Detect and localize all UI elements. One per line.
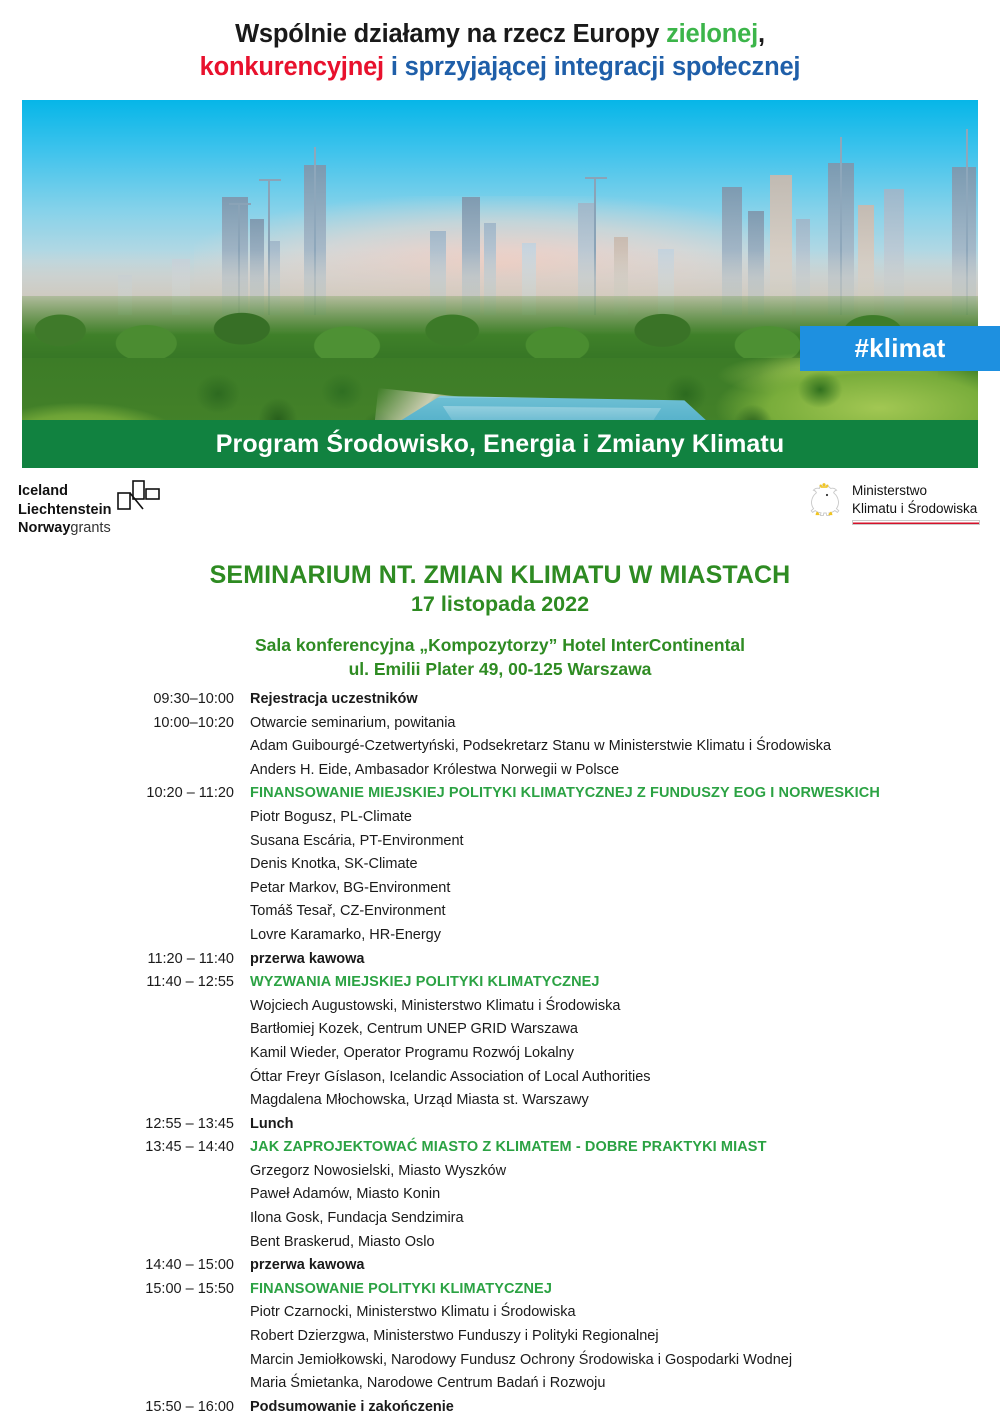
tagline-word-konkurencyjnej: konkurencyjnej bbox=[200, 53, 384, 81]
agenda-item-label: Rejestracja uczestników bbox=[250, 688, 418, 712]
agenda-time: 09:30–10:00 bbox=[0, 688, 250, 712]
program-name-bar: Program Środowisko, Energia i Zmiany Kli… bbox=[22, 420, 978, 468]
agenda-row: Ilona Gosk, Fundacja Sendzimira bbox=[0, 1207, 1000, 1231]
agenda-row: Tomáš Tesař, CZ-Environment bbox=[0, 900, 1000, 924]
tagline-line1-comma: , bbox=[758, 20, 765, 48]
program-name-label: Program Środowisko, Energia i Zmiany Kli… bbox=[216, 430, 784, 459]
agenda-row: Kamil Wieder, Operator Programu Rozwój L… bbox=[0, 1042, 1000, 1066]
event-header: SEMINARIUM NT. ZMIAN KLIMATU W MIASTACH … bbox=[0, 560, 1000, 681]
tagline-line2-part3: sprzyjającej integracji społecznej bbox=[405, 53, 801, 81]
agenda-speaker: Grzegorz Nowosielski, Miasto Wyszków bbox=[250, 1160, 506, 1184]
agenda-time: 11:20 – 11:40 bbox=[0, 948, 250, 972]
event-venue: Sala konferencyjna „Kompozytorzy” Hotel … bbox=[0, 634, 1000, 681]
ministry-logo-line-2: Klimatu i Środowiska bbox=[852, 500, 980, 518]
agenda-row: Óttar Freyr Gíslason, Icelandic Associat… bbox=[0, 1066, 1000, 1090]
agenda-speaker: Anders H. Eide, Ambasador Królestwa Norw… bbox=[250, 759, 619, 783]
tagline-line-1: Wspólnie działamy na rzecz Europy zielon… bbox=[0, 18, 1000, 51]
agenda-session-heading: FINANSOWANIE MIEJSKIEJ POLITYKI KLIMATYC… bbox=[250, 782, 880, 806]
agenda-row: 14:40 – 15:00przerwa kawowa bbox=[0, 1254, 1000, 1278]
agenda-row: 11:20 – 11:40przerwa kawowa bbox=[0, 948, 1000, 972]
agenda-row: Anders H. Eide, Ambasador Królestwa Norw… bbox=[0, 759, 1000, 783]
agenda-list: 09:30–10:00Rejestracja uczestników10:00–… bbox=[0, 688, 1000, 1419]
event-title: SEMINARIUM NT. ZMIAN KLIMATU W MIASTACH bbox=[0, 560, 1000, 591]
ministry-logo-line-1: Ministerstwo bbox=[852, 482, 980, 500]
agenda-speaker: Adam Guibourgé-Czetwertyński, Podsekreta… bbox=[250, 735, 831, 759]
venue-line-1: Sala konferencyjna „Kompozytorzy” Hotel … bbox=[0, 634, 1000, 657]
agenda-time: 12:55 – 13:45 bbox=[0, 1113, 250, 1137]
agenda-speaker: Piotr Bogusz, PL-Climate bbox=[250, 806, 412, 830]
agenda-row: 15:00 – 15:50FINANSOWANIE POLITYKI KLIMA… bbox=[0, 1278, 1000, 1302]
klimat-hashtag-badge: #klimat bbox=[800, 326, 1000, 371]
agenda-time: 11:40 – 12:55 bbox=[0, 971, 250, 995]
eea-grants-mark-icon bbox=[117, 480, 161, 515]
agenda-session-heading: WYZWANIA MIEJSKIEJ POLITYKI KLIMATYCZNEJ bbox=[250, 971, 600, 995]
agenda-speaker: Ilona Gosk, Fundacja Sendzimira bbox=[250, 1207, 464, 1231]
eea-logo-word-grants: grants bbox=[70, 520, 110, 536]
agenda-row: Maria Śmietanka, Narodowe Centrum Badań … bbox=[0, 1372, 1000, 1396]
agenda-speaker: Maria Śmietanka, Narodowe Centrum Badań … bbox=[250, 1372, 605, 1396]
venue-line-2: ul. Emilii Plater 49, 00-125 Warszawa bbox=[0, 658, 1000, 681]
tagline-word-zielonej: zielonej bbox=[666, 20, 758, 48]
eea-logo-line-liechtenstein: Liechtenstein bbox=[18, 501, 111, 520]
agenda-item-label: przerwa kawowa bbox=[250, 1254, 364, 1278]
agenda-speaker: Magdalena Młochowska, Urząd Miasta st. W… bbox=[250, 1089, 589, 1113]
campaign-tagline: Wspólnie działamy na rzecz Europy zielon… bbox=[0, 0, 1000, 84]
agenda-speaker: Lovre Karamarko, HR-Energy bbox=[250, 924, 441, 948]
agenda-item-label: Otwarcie seminarium, powitania bbox=[250, 712, 456, 736]
agenda-speaker: Susana Escária, PT-Environment bbox=[250, 830, 464, 854]
agenda-session-heading: JAK ZAPROJEKTOWAĆ MIASTO Z KLIMATEM - DO… bbox=[250, 1136, 767, 1160]
agenda-row: Wojciech Augustowski, Ministerstwo Klima… bbox=[0, 995, 1000, 1019]
warsaw-skyline-photo bbox=[22, 100, 978, 468]
agenda-item-label: Podsumowanie i zakończenie bbox=[250, 1396, 454, 1419]
agenda-row: 11:40 – 12:55WYZWANIA MIEJSKIEJ POLITYKI… bbox=[0, 971, 1000, 995]
event-date: 17 listopada 2022 bbox=[0, 591, 1000, 618]
tagline-line2-conjunction: i bbox=[384, 53, 405, 81]
tagline-line1-part1: Wspólnie działamy na rzecz Europy bbox=[235, 20, 666, 48]
agenda-speaker: Bent Braskerud, Miasto Oslo bbox=[250, 1231, 435, 1255]
agenda-time: 15:50 – 16:00 bbox=[0, 1396, 250, 1419]
agenda-speaker: Tomáš Tesař, CZ-Environment bbox=[250, 900, 446, 924]
agenda-row: Piotr Czarnocki, Ministerstwo Klimatu i … bbox=[0, 1301, 1000, 1325]
logos-row: Iceland Liechtenstein Norwaygrants bbox=[0, 472, 1000, 548]
agenda-row: 10:00–10:20Otwarcie seminarium, powitani… bbox=[0, 712, 1000, 736]
agenda-speaker: Kamil Wieder, Operator Programu Rozwój L… bbox=[250, 1042, 574, 1066]
eea-logo-line-iceland: Iceland bbox=[18, 482, 111, 501]
agenda-time: 15:00 – 15:50 bbox=[0, 1278, 250, 1302]
agenda-speaker: Bartłomiej Kozek, Centrum UNEP GRID Wars… bbox=[250, 1018, 578, 1042]
agenda-row: Robert Dzierzgwa, Ministerstwo Funduszy … bbox=[0, 1325, 1000, 1349]
agenda-row: Piotr Bogusz, PL-Climate bbox=[0, 806, 1000, 830]
agenda-speaker: Marcin Jemiołkowski, Narodowy Fundusz Oc… bbox=[250, 1349, 792, 1373]
agenda-session-heading: FINANSOWANIE POLITYKI KLIMATYCZNEJ bbox=[250, 1278, 552, 1302]
agenda-speaker: Óttar Freyr Gíslason, Icelandic Associat… bbox=[250, 1066, 651, 1090]
tagline-line-2: konkurencyjnej i sprzyjającej integracji… bbox=[0, 51, 1000, 84]
eea-logo-line-norway: Norway bbox=[18, 520, 70, 536]
agenda-time: 10:20 – 11:20 bbox=[0, 782, 250, 806]
agenda-row: 15:50 – 16:00Podsumowanie i zakończenie bbox=[0, 1396, 1000, 1419]
agenda-time: 14:40 – 15:00 bbox=[0, 1254, 250, 1278]
polish-eagle-emblem-icon bbox=[804, 480, 844, 527]
agenda-row: 13:45 – 14:40JAK ZAPROJEKTOWAĆ MIASTO Z … bbox=[0, 1136, 1000, 1160]
agenda-row: Adam Guibourgé-Czetwertyński, Podsekreta… bbox=[0, 735, 1000, 759]
agenda-row: Grzegorz Nowosielski, Miasto Wyszków bbox=[0, 1160, 1000, 1184]
polish-flag-rule bbox=[852, 520, 980, 525]
agenda-speaker: Wojciech Augustowski, Ministerstwo Klima… bbox=[250, 995, 620, 1019]
agenda-time: 10:00–10:20 bbox=[0, 712, 250, 736]
agenda-row: Petar Markov, BG-Environment bbox=[0, 877, 1000, 901]
agenda-row: Lovre Karamarko, HR-Energy bbox=[0, 924, 1000, 948]
agenda-row: Bartłomiej Kozek, Centrum UNEP GRID Wars… bbox=[0, 1018, 1000, 1042]
agenda-row: Marcin Jemiołkowski, Narodowy Fundusz Oc… bbox=[0, 1349, 1000, 1373]
agenda-time: 13:45 – 14:40 bbox=[0, 1136, 250, 1160]
agenda-row: 12:55 – 13:45Lunch bbox=[0, 1113, 1000, 1137]
agenda-row: Denis Knotka, SK-Climate bbox=[0, 853, 1000, 877]
agenda-speaker: Petar Markov, BG-Environment bbox=[250, 877, 450, 901]
eea-norway-grants-logo: Iceland Liechtenstein Norwaygrants bbox=[18, 482, 248, 538]
ministry-logo: Ministerstwo Klimatu i Środowiska bbox=[804, 480, 980, 527]
agenda-row: 09:30–10:00Rejestracja uczestników bbox=[0, 688, 1000, 712]
agenda-row: Magdalena Młochowska, Urząd Miasta st. W… bbox=[0, 1089, 1000, 1113]
klimat-hashtag-label: #klimat bbox=[854, 333, 945, 364]
agenda-row: Bent Braskerud, Miasto Oslo bbox=[0, 1231, 1000, 1255]
agenda-speaker: Piotr Czarnocki, Ministerstwo Klimatu i … bbox=[250, 1301, 576, 1325]
agenda-speaker: Robert Dzierzgwa, Ministerstwo Funduszy … bbox=[250, 1325, 659, 1349]
agenda-speaker: Paweł Adamów, Miasto Konin bbox=[250, 1183, 440, 1207]
agenda-row: Paweł Adamów, Miasto Konin bbox=[0, 1183, 1000, 1207]
agenda-item-label: przerwa kawowa bbox=[250, 948, 364, 972]
agenda-speaker: Denis Knotka, SK-Climate bbox=[250, 853, 418, 877]
agenda-item-label: Lunch bbox=[250, 1113, 294, 1137]
agenda-row: 10:20 – 11:20FINANSOWANIE MIEJSKIEJ POLI… bbox=[0, 782, 1000, 806]
agenda-row: Susana Escária, PT-Environment bbox=[0, 830, 1000, 854]
